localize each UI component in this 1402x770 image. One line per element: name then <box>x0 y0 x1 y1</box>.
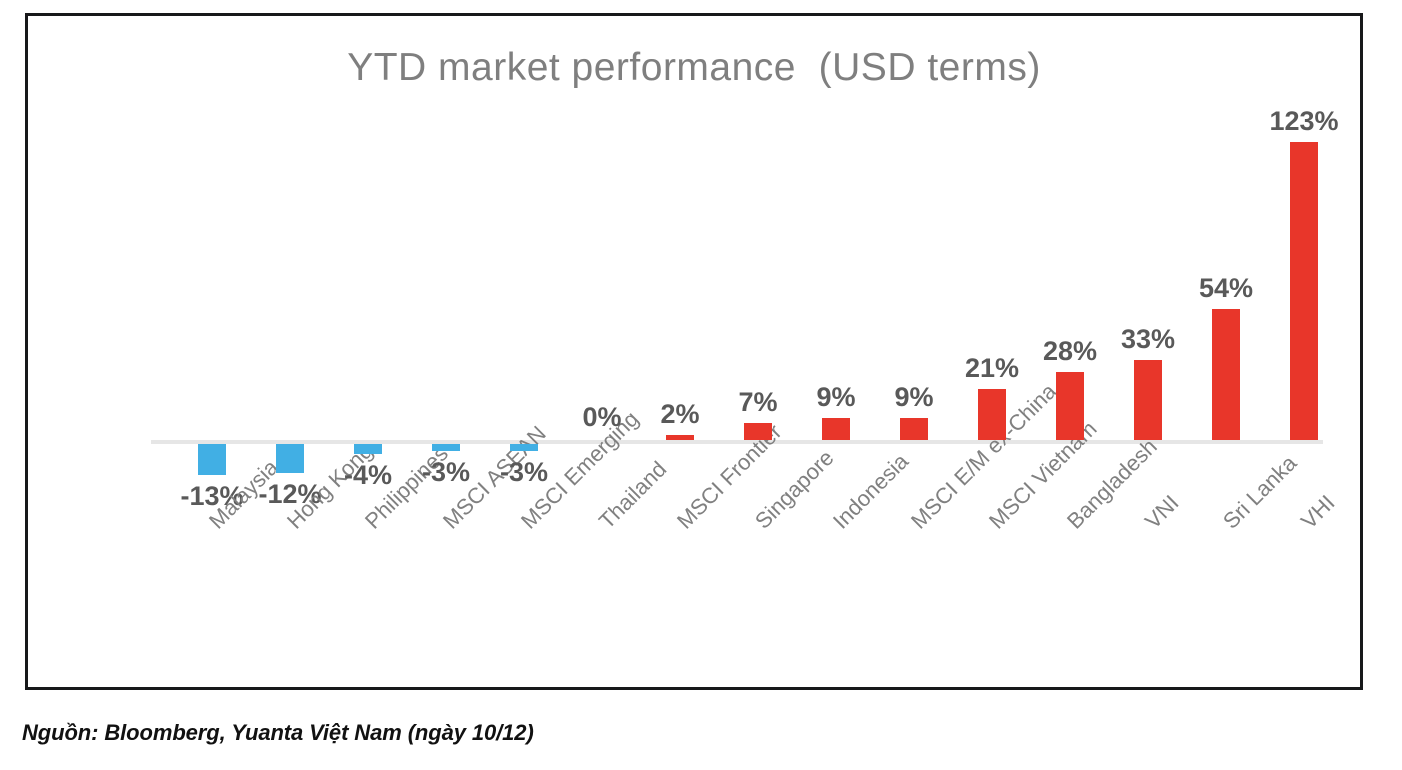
bar-slot: 33%VNI <box>1109 16 1187 690</box>
bar-positive[interactable] <box>1134 360 1162 440</box>
bar-positive[interactable] <box>822 418 850 440</box>
bar-positive[interactable] <box>978 389 1006 440</box>
bar-negative[interactable] <box>198 444 226 475</box>
bar-slot: 0%Thailand <box>563 16 641 690</box>
bar-slot: 9%MSCI E/M ex-China <box>875 16 953 690</box>
bar-negative[interactable] <box>276 444 304 473</box>
bar-value-label: 28% <box>1031 336 1109 367</box>
bar-slot: 2%MSCI Frontier <box>641 16 719 690</box>
category-label: VHI <box>1296 490 1340 534</box>
bar-positive[interactable] <box>1212 309 1240 440</box>
bar-slot: -4%Philippines <box>329 16 407 690</box>
plot-area: -13%Malaysia-12%Hong Kong-4%Philippines-… <box>151 16 1323 690</box>
bar-slot: 28%Bangladesh <box>1031 16 1109 690</box>
bar-negative[interactable] <box>354 444 382 454</box>
bar-slot: 54%Sri Lanka <box>1187 16 1265 690</box>
bar-value-label: 9% <box>875 382 953 413</box>
bar-positive[interactable] <box>666 435 694 440</box>
bar-value-label: 21% <box>953 353 1031 384</box>
bar-negative[interactable] <box>510 444 538 451</box>
bar-value-label: 33% <box>1109 324 1187 355</box>
bar-value-label: 2% <box>641 399 719 430</box>
category-label: VNI <box>1140 490 1184 534</box>
bar-value-label: 9% <box>797 382 875 413</box>
bar-series: -13%Malaysia-12%Hong Kong-4%Philippines-… <box>151 16 1323 690</box>
bar-slot: -13%Malaysia <box>173 16 251 690</box>
bar-slot: -3%MSCI Emerging <box>485 16 563 690</box>
chart-page: YTD market performance (USD terms) -13%M… <box>0 0 1402 770</box>
source-caption: Nguồn: Bloomberg, Yuanta Việt Nam (ngày … <box>22 720 534 746</box>
chart-frame: YTD market performance (USD terms) -13%M… <box>25 13 1363 690</box>
bar-slot: 123%VHI <box>1265 16 1343 690</box>
bar-positive[interactable] <box>900 418 928 440</box>
bar-positive[interactable] <box>744 423 772 440</box>
bar-slot: 7%Singapore <box>719 16 797 690</box>
bar-slot: 21%MSCI Vietnam <box>953 16 1031 690</box>
bar-value-label: 0% <box>563 402 641 433</box>
bar-slot: -12%Hong Kong <box>251 16 329 690</box>
bar-positive[interactable] <box>1056 372 1084 440</box>
bar-slot: -3%MSCI ASEAN <box>407 16 485 690</box>
bar-value-label: 54% <box>1187 273 1265 304</box>
bar-value-label: 7% <box>719 387 797 418</box>
bar-positive[interactable] <box>1290 142 1318 440</box>
bar-value-label: 123% <box>1265 106 1343 137</box>
bar-negative[interactable] <box>432 444 460 451</box>
bar-slot: 9%Indonesia <box>797 16 875 690</box>
